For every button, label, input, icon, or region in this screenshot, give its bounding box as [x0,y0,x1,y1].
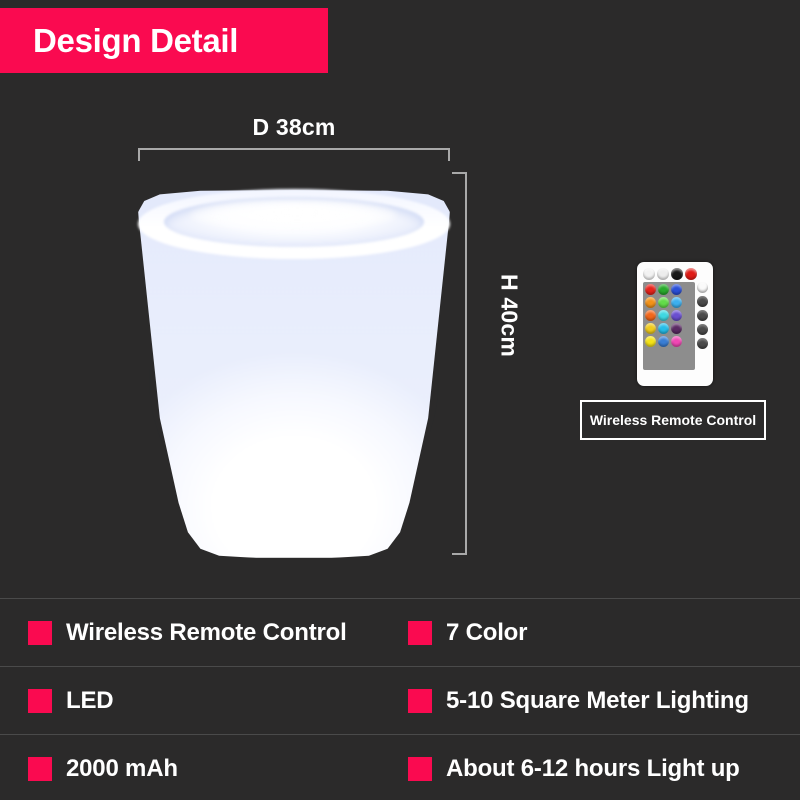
remote-color-keypad [643,282,695,370]
product-stage: D 38cm H 40cm Wireless Remote Control [0,80,800,595]
color-medium-blue [658,336,669,347]
feature-label: About 6-12 hours Light up [446,755,740,783]
wireless-remote-control-image [637,262,713,386]
feature-row: Wireless Remote Control 7 Color [0,598,800,666]
remote-button-row [643,321,695,334]
bullet-square-icon [408,689,432,713]
feature-item-left: Wireless Remote Control [0,599,404,666]
feature-item-left: 2000 mAh [0,735,404,800]
width-dimension-cap-left [138,148,140,161]
bullet-square-icon [28,621,52,645]
color-yellow [645,336,656,347]
width-dimension-bar [138,148,450,150]
function-button-2 [697,310,708,321]
feature-row: 2000 mAh About 6-12 hours Light up [0,734,800,800]
color-cyan [658,310,669,321]
feature-row: LED 5-10 Square Meter Lighting [0,666,800,734]
feature-label: 5-10 Square Meter Lighting [446,687,749,715]
bullet-square-icon [28,689,52,713]
width-dimension-cap-right [448,148,450,161]
lamp-opening-highlight [190,200,396,230]
width-dimension-label: D 38cm [138,114,450,141]
color-orange-red [645,310,656,321]
feature-item-right: 5-10 Square Meter Lighting [404,667,800,734]
feature-item-left: LED [0,667,404,734]
color-orange [645,297,656,308]
feature-label: LED [66,687,113,715]
remote-button-row [643,308,695,321]
remote-caption-box: Wireless Remote Control [580,400,766,440]
height-dimension-cap-top [452,172,467,174]
color-red [645,284,656,295]
color-light-green [658,297,669,308]
feature-label: Wireless Remote Control [66,619,347,647]
color-white [697,282,708,293]
function-button-3 [697,324,708,335]
feature-label: 7 Color [446,619,527,647]
header-banner: Design Detail [0,8,328,73]
color-magenta [671,336,682,347]
remote-caption-label: Wireless Remote Control [590,412,756,428]
color-blue [671,284,682,295]
color-sky-blue [658,323,669,334]
color-green [658,284,669,295]
feature-label: 2000 mAh [66,755,178,783]
design-detail-infographic: Design Detail D 38cm H 40cm Wireles [0,0,800,800]
bullet-square-icon [408,757,432,781]
page-title: Design Detail [33,22,238,60]
power-off-button [671,268,683,280]
led-lamp-product-image [138,190,450,558]
remote-button-row [643,282,695,295]
height-dimension-cap-bottom [452,553,467,555]
power-on-button [685,268,697,280]
bullet-square-icon [408,621,432,645]
function-button-4 [697,338,708,349]
remote-function-button-column [697,282,708,349]
remote-button-row [643,295,695,308]
feature-list: Wireless Remote Control 7 Color LED 5-10… [0,598,800,800]
color-yellow-orange [645,323,656,334]
bullet-square-icon [28,757,52,781]
color-dark-purple [671,323,682,334]
height-dimension-bar [465,172,467,555]
remote-top-button-row [643,268,697,280]
brightness-up-button [643,268,655,280]
color-purple [671,310,682,321]
brightness-down-button [657,268,669,280]
remote-button-row [643,334,695,347]
height-dimension-label: H 40cm [496,256,523,376]
function-button-1 [697,296,708,307]
feature-item-right: 7 Color [404,599,800,666]
feature-item-right: About 6-12 hours Light up [404,735,800,800]
color-light-blue [671,297,682,308]
